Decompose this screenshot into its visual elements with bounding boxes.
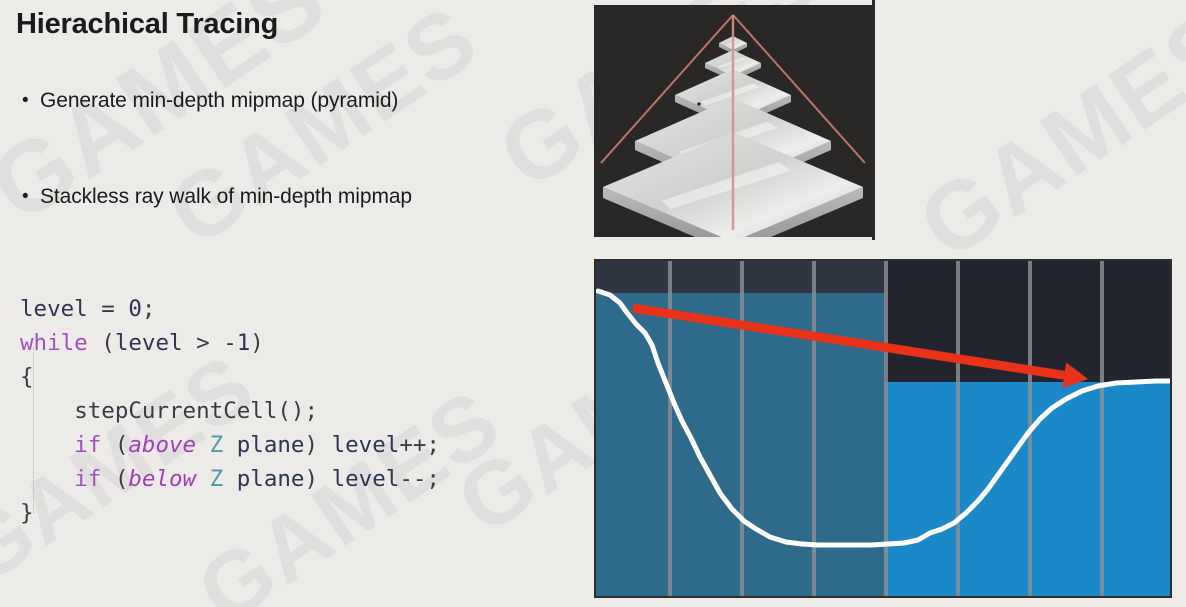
bullet-item-1: • Stackless ray walk of min-depth mipmap xyxy=(22,184,412,210)
code-line-4: if (above Z plane) level++; xyxy=(20,428,440,462)
code-line-2: { xyxy=(20,360,440,394)
code-token: = xyxy=(101,296,115,322)
bullet-item-0: • Generate min-depth mipmap (pyramid) xyxy=(22,88,398,114)
bullet-text-0: Generate min-depth mipmap (pyramid) xyxy=(40,88,398,114)
code-token: ++; xyxy=(399,432,440,458)
code-token: ) xyxy=(304,432,331,458)
bullet-text-1: Stackless ray walk of min-depth mipmap xyxy=(40,184,412,210)
bullet-marker-icon: • xyxy=(22,184,40,210)
code-token xyxy=(196,432,210,458)
code-token: ( xyxy=(101,466,128,492)
code-token: ) xyxy=(304,466,331,492)
code-token: level xyxy=(115,330,183,356)
code-token: } xyxy=(20,500,34,526)
code-token: ( xyxy=(101,432,128,458)
code-token xyxy=(88,296,102,322)
code-token: if xyxy=(74,432,101,458)
code-token: plane xyxy=(237,432,305,458)
code-token: 0 xyxy=(128,296,142,322)
code-token: above xyxy=(128,432,196,458)
code-token: level xyxy=(332,432,400,458)
mipmap-cell-chart xyxy=(594,259,1172,598)
code-token xyxy=(183,330,197,356)
code-token xyxy=(20,466,74,492)
code-token xyxy=(210,330,224,356)
code-token: level xyxy=(20,296,88,322)
watermark-4: GAMES xyxy=(900,0,1186,281)
code-token xyxy=(196,466,210,492)
code-token xyxy=(20,432,74,458)
code-token: if xyxy=(74,466,101,492)
code-token: stepCurrentCell xyxy=(74,398,277,424)
code-token: while xyxy=(20,330,88,356)
code-line-5: if (below Z plane) level--; xyxy=(20,462,440,496)
code-token: --; xyxy=(399,466,440,492)
code-line-1: while (level > -1) xyxy=(20,326,440,360)
code-line-6: } xyxy=(20,496,440,530)
code-token: ) xyxy=(250,330,264,356)
code-token: ( xyxy=(88,330,115,356)
code-token xyxy=(20,398,74,424)
code-token: -1 xyxy=(223,330,250,356)
code-token: plane xyxy=(237,466,305,492)
slide-vertical-rule xyxy=(872,0,875,240)
bullet-marker-icon: • xyxy=(22,88,40,114)
page-title: Hierachical Tracing xyxy=(16,8,278,41)
code-token: below xyxy=(128,466,196,492)
code-line-0: level = 0; xyxy=(20,292,440,326)
code-token: Z xyxy=(210,466,224,492)
code-block: level = 0;while (level > -1){ stepCurren… xyxy=(20,292,440,530)
pyramid-speck xyxy=(697,102,700,105)
code-token xyxy=(223,432,237,458)
mipmap-cell-chart-svg xyxy=(596,261,1170,596)
code-token: level xyxy=(332,466,400,492)
code-token: > xyxy=(196,330,210,356)
slide-canvas: GAMES GAMES GAMES GAMES GAMES GAMES GAME… xyxy=(0,0,1186,607)
code-token: (); xyxy=(277,398,318,424)
pyramid-svg xyxy=(594,5,872,237)
code-token: Z xyxy=(210,432,224,458)
code-token xyxy=(115,296,129,322)
coarse-cell-right xyxy=(885,382,1170,596)
code-token: ; xyxy=(142,296,156,322)
mipmap-pyramid-image xyxy=(594,5,872,237)
code-token xyxy=(223,466,237,492)
code-line-3: stepCurrentCell(); xyxy=(20,394,440,428)
code-token: { xyxy=(20,364,34,390)
